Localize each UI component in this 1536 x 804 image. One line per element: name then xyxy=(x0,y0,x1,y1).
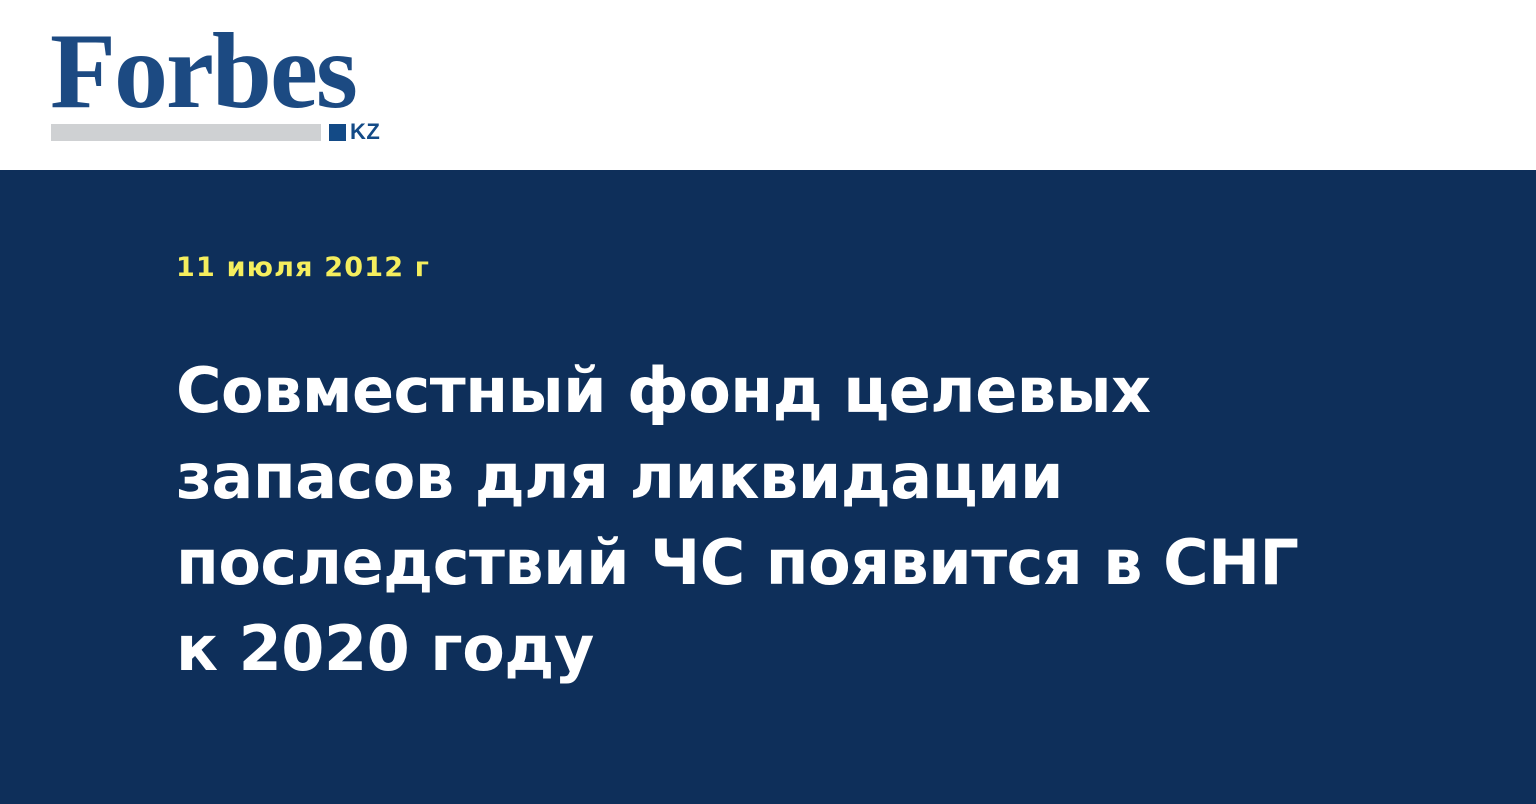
article-hero-page: Forbes kz 11 июля 2012 г Совместный фонд… xyxy=(0,0,1536,804)
article-hero: 11 июля 2012 г Совместный фонд целевых з… xyxy=(0,170,1536,804)
forbes-wordmark: Forbes xyxy=(50,18,356,126)
article-title: Совместный фонд целевых запасов для ликв… xyxy=(176,348,1356,692)
logo-square-icon xyxy=(329,124,346,141)
logo-rule xyxy=(51,124,321,141)
logo-kz-suffix: kz xyxy=(350,122,380,142)
article-date: 11 июля 2012 г xyxy=(176,252,430,283)
forbes-kz-logo[interactable]: Forbes kz xyxy=(50,24,410,146)
site-header: Forbes kz xyxy=(0,0,1536,170)
